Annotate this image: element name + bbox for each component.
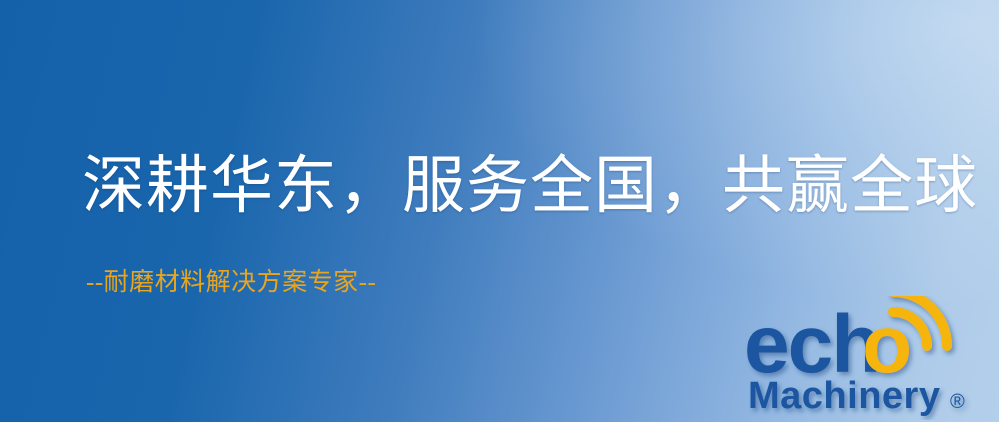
- banner-headline: 深耕华东，服务全国，共赢全球: [82, 152, 978, 220]
- promo-banner: 深耕华东，服务全国，共赢全球 --耐磨材料解决方案专家-- ech o Mach…: [0, 0, 999, 422]
- echo-machinery-logo[interactable]: ech o Machinery ®: [744, 296, 996, 420]
- logo-tagline: Machinery: [748, 375, 940, 417]
- registered-trademark-icon: ®: [950, 391, 965, 413]
- logo-artwork: ech o Machinery ®: [744, 296, 996, 420]
- banner-subheadline: --耐磨材料解决方案专家--: [86, 268, 376, 298]
